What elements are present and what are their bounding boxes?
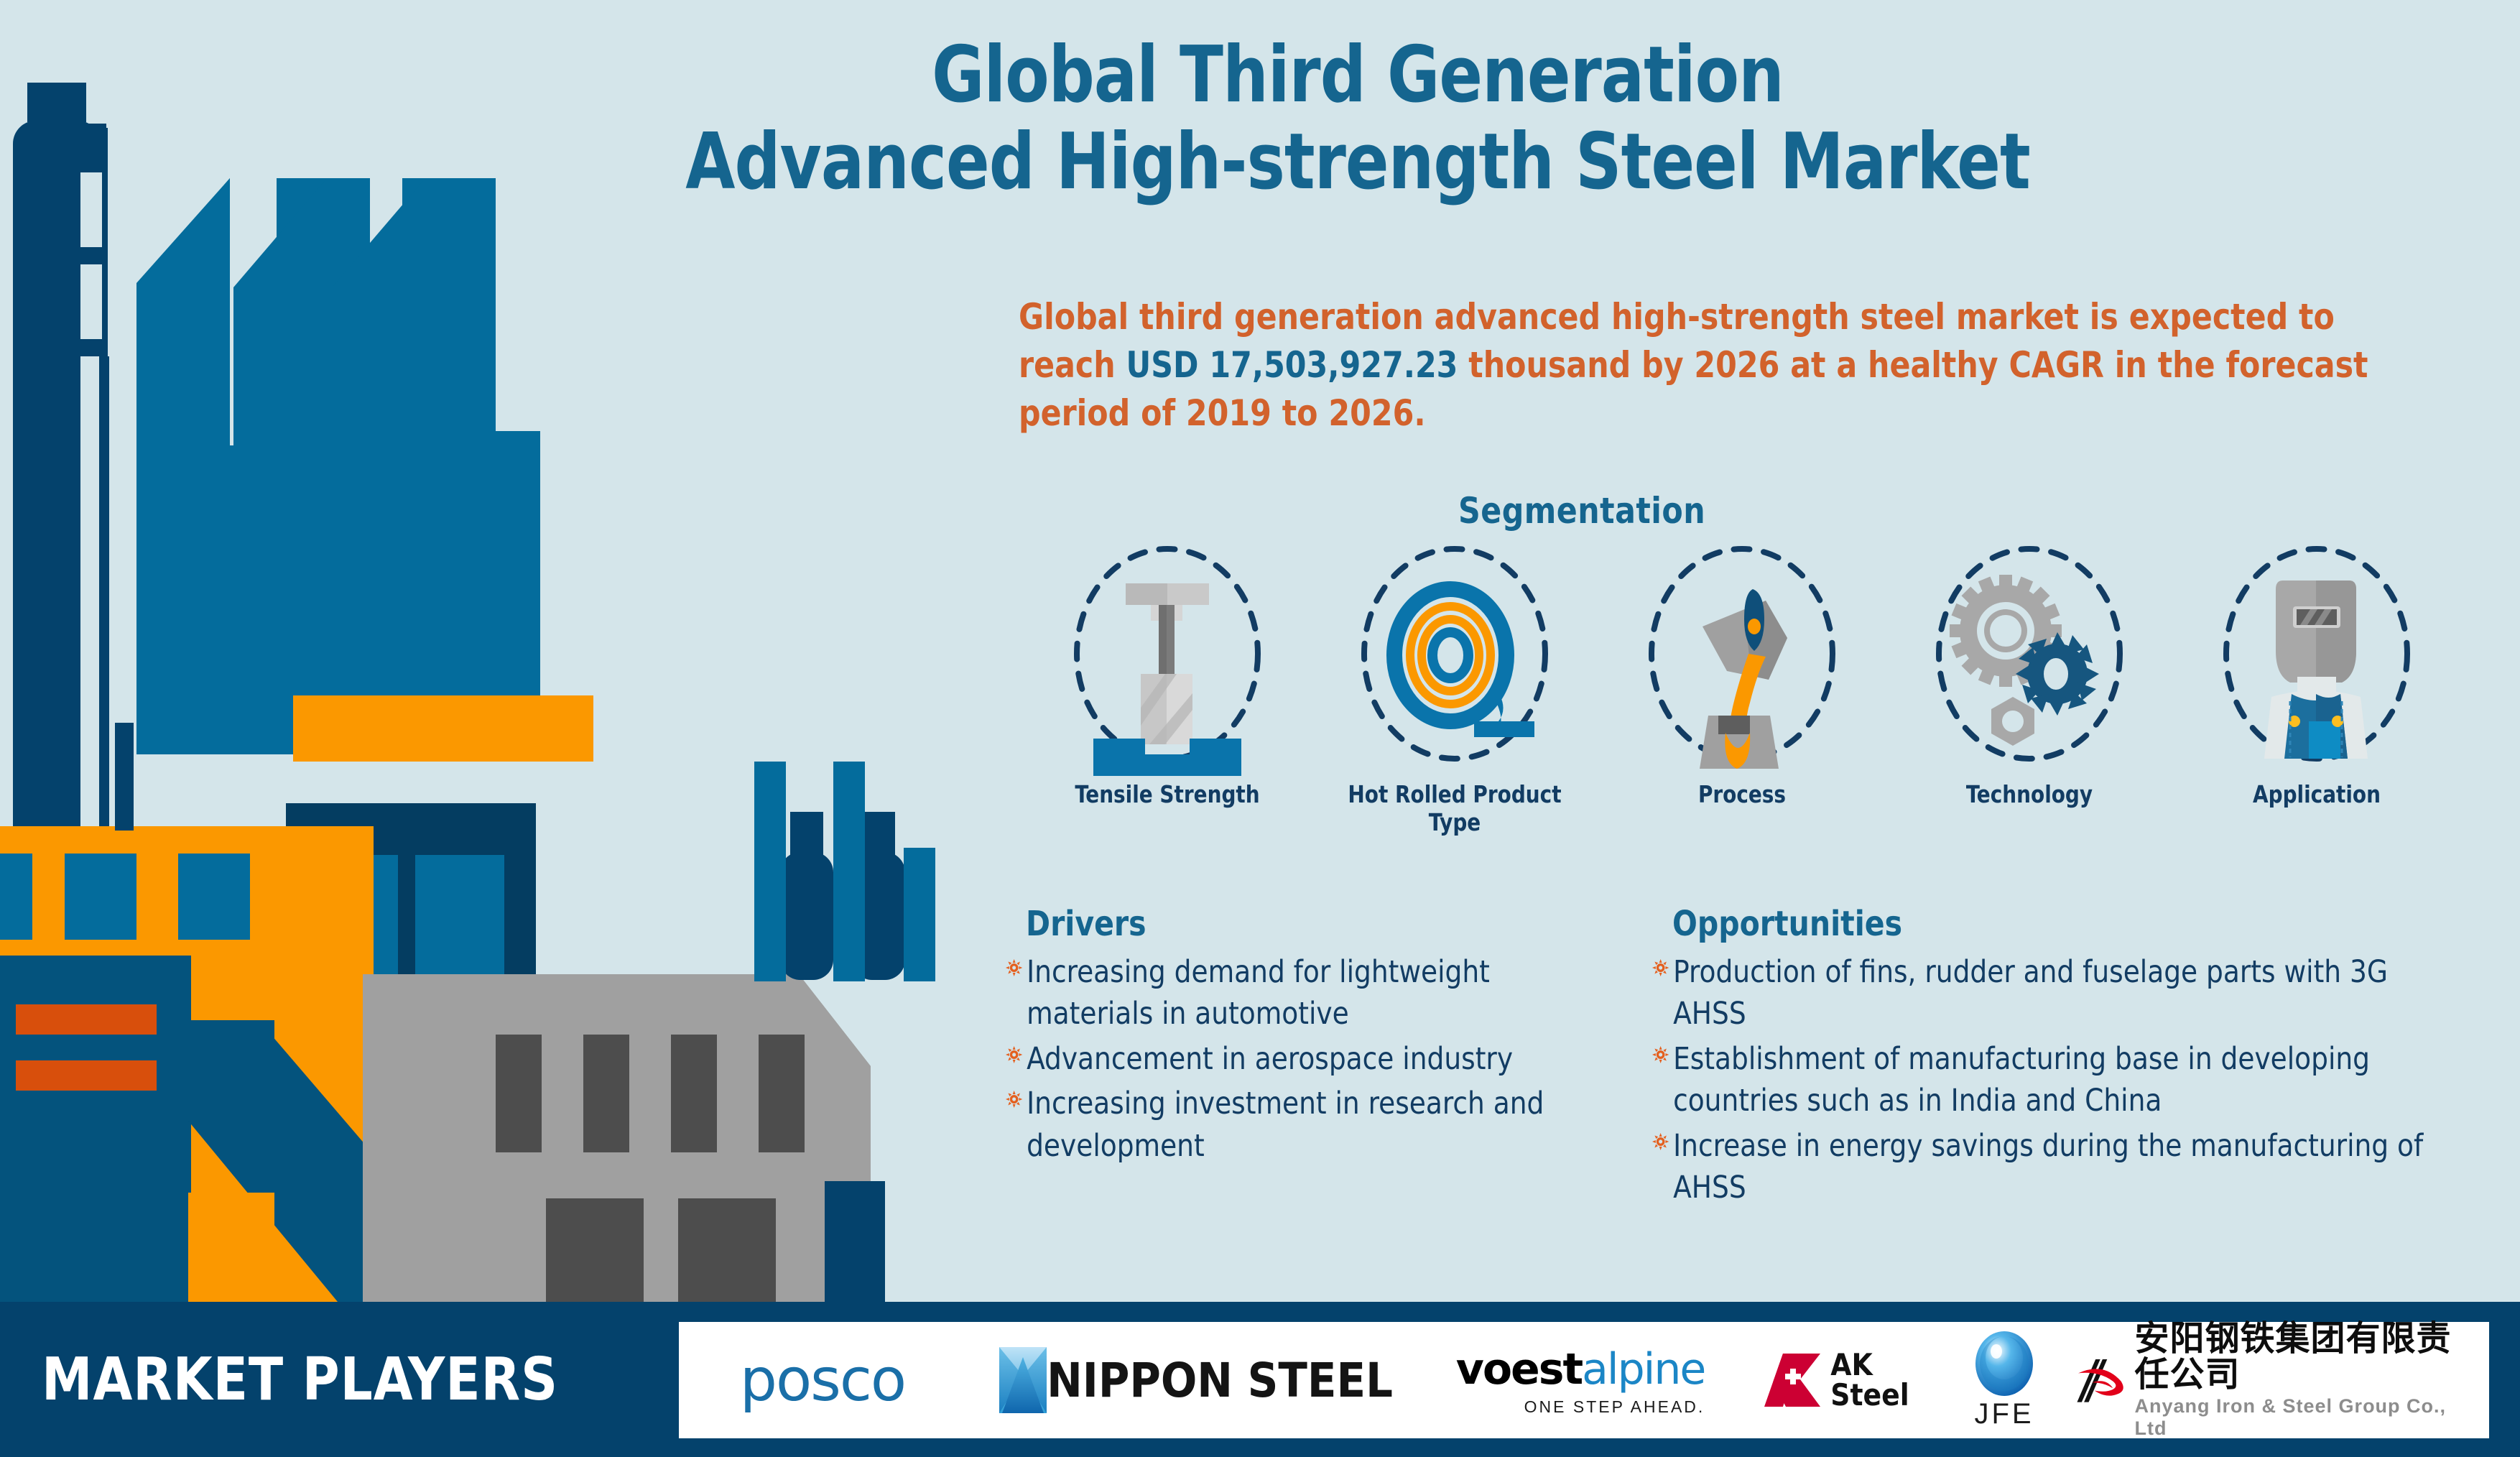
infographic-canvas: Global Third Generation Advanced High-st… — [0, 0, 2520, 1457]
molten-pour-icon — [1639, 546, 1845, 776]
segment-label: Application — [2205, 780, 2428, 808]
voestalpine-wordmark: voestalpine — [1456, 1344, 1705, 1394]
logo-voestalpine[interactable]: voestalpine ONE STEP AHEAD. — [1426, 1322, 1735, 1438]
voest-part: voest — [1456, 1344, 1582, 1394]
anyang-mark-icon — [2072, 1347, 2131, 1413]
market-players-label: MARKET PLAYERS — [42, 1346, 558, 1414]
drivers-column: Drivers Increasing demand for lightweigh… — [1006, 904, 1588, 1170]
nippon-steel-wordmark: NIPPON STEEL — [1047, 1353, 1393, 1408]
ak-steel-mark-icon — [1761, 1349, 1823, 1411]
list-item-text: Increasing demand for lightweight materi… — [1027, 954, 1490, 1032]
segmentation-row: Tensile Strength Hot Rolled Product Type — [1049, 546, 2478, 833]
nippon-steel-mark-icon — [999, 1347, 1047, 1413]
alpine-part: alpine — [1582, 1344, 1705, 1394]
segment-label: Technology — [1918, 780, 2141, 808]
logo-anyang[interactable]: 安阳钢铁集团有限责任公司 Anyang Iron & Steel Group C… — [2072, 1322, 2475, 1438]
list-item: Advancement in aerospace industry — [1006, 1038, 1570, 1080]
segment-tensile-strength[interactable]: Tensile Strength — [1049, 546, 1286, 808]
drivers-list: Increasing demand for lightweight materi… — [1006, 951, 1588, 1167]
steel-coil-icon — [1352, 546, 1557, 776]
list-item-text: Increasing investment in research and de… — [1027, 1086, 1544, 1163]
logo-jfe[interactable]: JFE — [1936, 1322, 2072, 1438]
gear-bullet-icon — [1006, 1091, 1022, 1108]
list-item: Increasing investment in research and de… — [1006, 1083, 1570, 1167]
logo-ak-steel[interactable]: AK Steel — [1735, 1322, 1936, 1438]
opportunities-column: Opportunities Production of fins, rudder… — [1652, 904, 2486, 1212]
jfe-mark-icon — [1974, 1331, 2034, 1397]
logo-posco[interactable]: posco — [679, 1322, 966, 1438]
posco-wordmark: posco — [740, 1346, 905, 1415]
gear-bullet-icon — [1652, 959, 1669, 976]
logo-panel: posco NIPP — [679, 1322, 2489, 1438]
press-punch-icon — [1065, 546, 1270, 776]
market-summary: Global third generation advanced high-st… — [1019, 293, 2377, 438]
list-item: Increase in energy savings during the ma… — [1652, 1125, 2460, 1209]
list-item-text: Production of fins, rudder and fuselage … — [1673, 954, 2388, 1032]
segmentation-heading: Segmentation — [1458, 490, 1705, 532]
drivers-heading: Drivers — [1026, 904, 1146, 944]
logo-nippon-steel[interactable]: NIPPON STEEL — [966, 1322, 1426, 1438]
page-title: Global Third Generation Advanced High-st… — [532, 32, 2184, 206]
anyang-english-name: Anyang Iron & Steel Group Co., Ltd — [2135, 1395, 2475, 1440]
ak-line-1: AK — [1830, 1350, 1909, 1380]
jfe-wordmark: JFE — [1974, 1398, 2034, 1430]
ak-steel-wordmark: AK Steel — [1830, 1350, 1909, 1410]
segment-technology[interactable]: Technology — [1911, 546, 2148, 808]
gear-bullet-icon — [1652, 1133, 1669, 1150]
anyang-chinese-name: 安阳钢铁集团有限责任公司 — [2135, 1320, 2475, 1393]
list-item-text: Advancement in aerospace industry — [1027, 1041, 1513, 1077]
gears-saw-blade-icon — [1927, 546, 2132, 776]
gear-bullet-icon — [1006, 959, 1022, 976]
opportunities-list: Production of fins, rudder and fuselage … — [1652, 951, 2486, 1209]
segment-label: Hot Rolled Product Type — [1343, 780, 1566, 836]
segment-application[interactable]: Application — [2198, 546, 2435, 808]
segment-hot-rolled-product-type[interactable]: Hot Rolled Product Type — [1336, 546, 1573, 836]
segment-label: Tensile Strength — [1056, 780, 1279, 808]
summary-value: USD 17,503,927.23 — [1126, 344, 1458, 386]
list-item: Establishment of manufacturing base in d… — [1652, 1038, 2460, 1122]
voestalpine-tagline: ONE STEP AHEAD. — [1524, 1397, 1705, 1417]
list-item: Increasing demand for lightweight materi… — [1006, 951, 1570, 1035]
list-item-text: Increase in energy savings during the ma… — [1673, 1128, 2423, 1206]
segment-label: Process — [1631, 780, 1853, 808]
title-line-1: Global Third Generation — [932, 30, 1784, 120]
ak-line-2: Steel — [1830, 1380, 1909, 1410]
opportunities-heading: Opportunities — [1672, 904, 1902, 944]
title-line-2: Advanced High-strength Steel Market — [532, 119, 2184, 206]
segment-process[interactable]: Process — [1623, 546, 1861, 808]
gear-bullet-icon — [1006, 1046, 1022, 1063]
list-item-text: Establishment of manufacturing base in d… — [1673, 1041, 2370, 1119]
gear-bullet-icon — [1652, 1046, 1669, 1063]
welder-worker-icon — [2214, 546, 2419, 776]
list-item: Production of fins, rudder and fuselage … — [1652, 951, 2460, 1035]
